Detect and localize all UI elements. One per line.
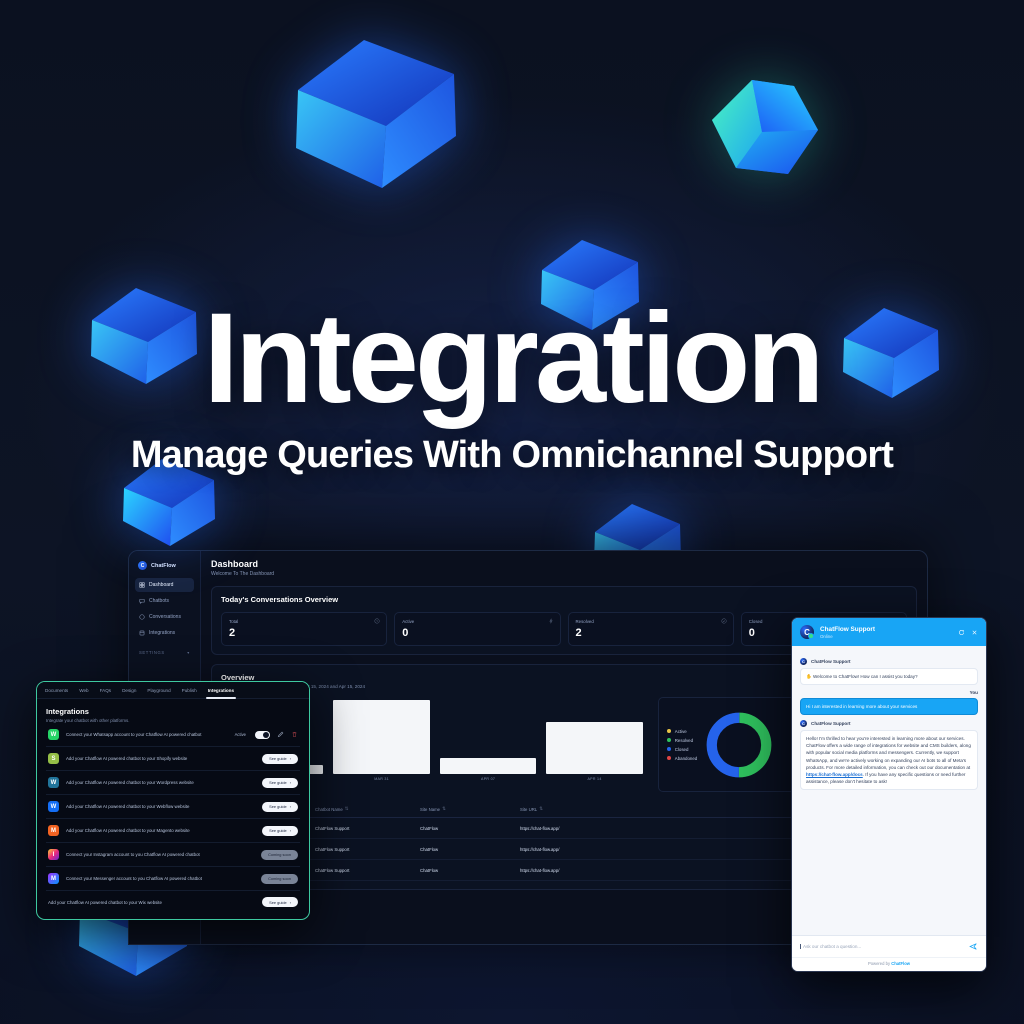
button-label: See guide [269,900,287,905]
bolt-icon [548,618,554,624]
footer-prefix: Powered by [868,961,891,966]
chevron-right-icon: › [290,804,291,809]
integration-row-messenger: M Connect your Messenger account to you … [46,867,300,891]
delete-trash-icon[interactable] [291,731,298,738]
stat-value: 2 [229,627,379,639]
header-label: Chatbot Name [315,807,343,812]
sidebar-item-label: Dashboard [149,582,173,588]
stat-card-total: Total 2 [221,612,387,646]
grid-icon [139,582,145,588]
stat-card-resolved: Resolved 2 [568,612,734,646]
chevron-down-icon: ▾ [187,650,190,655]
tab-playground[interactable]: Playground [147,688,170,698]
chevron-right-icon: › [290,756,291,761]
card-title: Today's Conversations Overview [221,595,907,604]
integration-label: Add your Chatflow AI powered chatbot to … [66,780,255,785]
edit-pencil-icon[interactable] [277,731,284,738]
integration-row-instagram: I Connect your Instagram account to you … [46,843,300,867]
sidebar-item-dashboard[interactable]: Dashboard [135,578,194,592]
stat-label: Resolved [576,619,726,624]
integration-label: Connect your Whatsapp account to your Ch… [66,732,228,737]
bot-avatar-icon: C [800,658,807,665]
chat-title: ChatFlow Support [820,626,875,633]
integrations-tabbar: Documents Web FAQs Design Playground Pub… [37,682,309,699]
sidebar-group-settings[interactable]: SETTINGS ▾ [135,642,194,658]
docs-link[interactable]: https://chat-flow.app/docs [806,772,863,777]
tab-web[interactable]: Web [79,688,88,698]
legend-swatch [667,756,671,760]
button-label: See guide [269,756,287,761]
shopify-icon: S [48,753,59,764]
refresh-icon[interactable] [958,629,965,636]
sort-icon: ⇅ [345,806,349,812]
brand-mark-icon: C [138,561,147,570]
legend-item: Abandoned [667,756,697,761]
active-toggle[interactable] [255,731,270,739]
tab-integrations[interactable]: Integrations [208,688,234,698]
legend-item: Closed [667,747,697,752]
chat-header: C ChatFlow Support Online [792,618,986,646]
messenger-icon: M [48,873,59,884]
stat-label: Total [229,619,379,624]
integration-label: Connect your Instagram account to you Ch… [66,852,254,857]
sort-icon: ⇅ [442,806,446,812]
sidebar-item-chatbots[interactable]: Chatbots [135,594,194,608]
bar [440,758,536,774]
hero-section: Integration Manage Queries With Omnichan… [0,300,1024,477]
sidebar-item-conversations[interactable]: Conversations [135,610,194,624]
chat-header-actions [958,629,978,636]
table-header-chatbot-name[interactable]: Chatbot Name⇅ [315,806,420,812]
sidebar-item-label: Conversations [149,614,181,620]
close-icon[interactable] [971,629,978,636]
legend-item: Active [667,729,697,734]
integrations-body: Integrations Integrate your chatbot with… [37,699,309,920]
poster-stage: Integration Manage Queries With Omnichan… [0,0,1024,1024]
header-label: Site URL [520,807,537,812]
stat-value: 0 [402,627,552,639]
status-badge: Online [820,634,875,639]
page-title: Integration [0,300,1024,418]
stat-card-active: Active 0 [394,612,560,646]
legend-swatch [667,729,671,733]
send-icon[interactable] [969,942,978,951]
see-guide-button[interactable]: See guide› [262,802,298,812]
chat-input-field[interactable]: Ask our chatbot a question... [800,944,963,949]
message-bubble-bot: Hello! I'm thrilled to hear you're inter… [800,730,978,790]
chat-footer: Powered by ChatFlow [792,957,986,971]
integration-row-webflow: W Add your Chatflow AI powered chatbot t… [46,795,300,819]
bar-group: APR 07 [440,697,536,781]
dashboard-subheading: Welcome To The Dashboard [211,571,917,577]
cell-site-name: ChatFlow [420,826,520,831]
cell-chatbot-name: ChatFlow Support [315,847,420,852]
cell-chatbot-name: ChatFlow Support [315,826,420,831]
header-label: Site Name [420,807,440,812]
tab-faqs[interactable]: FAQs [100,688,112,698]
message-bubble-user: Hi I am interested in learning more abou… [800,698,978,715]
bot-avatar-icon: C [800,720,807,727]
bar-group: MAR 31 [333,697,429,781]
legend-label: Abandoned [675,756,697,761]
button-label: See guide [269,780,287,785]
whatsapp-icon: W [48,729,59,740]
tab-publish[interactable]: Publish [182,688,197,698]
sidebar-item-label: Integrations [149,630,175,636]
legend-label: Resolved [675,738,693,743]
magento-icon: M [48,825,59,836]
instagram-icon: I [48,849,59,860]
legend-label: Active [675,729,687,734]
sender-name: ChatFlow Support [811,721,851,726]
octahedron-shape-top-right [706,74,824,182]
footer-brand: ChatFlow [891,961,910,966]
see-guide-button[interactable]: See guide› [262,778,298,788]
integration-row-whatsapp: W Connect your Whatsapp account to your … [46,723,300,747]
integration-row-magento: M Add your Chatflow AI powered chatbot t… [46,819,300,843]
cell-site-name: ChatFlow [420,847,520,852]
bar-label: MAR 31 [374,777,389,781]
integration-label: Add your Chatflow AI powered chatbot to … [66,804,255,809]
see-guide-button[interactable]: See guide› [262,754,298,764]
bar-group: APR 14 [546,697,642,781]
page-subtitle: Manage Queries With Omnichannel Support [0,434,1024,477]
cell-site-name: ChatFlow [420,868,520,873]
integration-label: Add your Chatflow AI powered chatbot to … [66,756,255,761]
chat-messages: C ChatFlow Support ✋ Welcome to ChatFlow… [792,646,986,935]
integration-row-wix: Add your Chatflow AI powered chatbot to … [46,891,300,913]
check-icon [721,618,727,624]
integrations-window: Documents Web FAQs Design Playground Pub… [36,681,310,920]
integration-label: Add your Chatflow AI powered chatbot to … [48,900,255,905]
tab-design[interactable]: Design [122,688,136,698]
message-text: Hello! I'm thrilled to hear you're inter… [806,736,971,769]
chevron-right-icon: › [290,780,291,785]
integrations-title: Integrations [46,707,300,716]
chat-input-bar[interactable]: Ask our chatbot a question... [792,935,986,957]
legend-item: Resolved [667,738,697,743]
chat-widget: C ChatFlow Support Online C ChatFlow Sup… [791,617,987,972]
sidebar-item-integrations[interactable]: Integrations [135,626,194,640]
stat-value: 2 [576,627,726,639]
chevron-right-icon: › [290,900,291,905]
message-bubble-bot: ✋ Welcome to ChatFlow! How can I assist … [800,668,978,685]
button-label: See guide [269,804,287,809]
legend-label: Closed [675,747,689,752]
donut-chart [703,709,775,781]
chat-header-text: ChatFlow Support Online [820,626,875,639]
bar-label: APR 14 [587,777,601,781]
chart-legend: Active Resolved Closed Abandoned [667,729,697,761]
cube-shape-top-left [286,22,476,197]
bar [546,722,642,774]
integration-row-shopify: S Add your Chatflow AI powered chatbot t… [46,747,300,771]
integration-row-wordpress: W Add your Chatflow AI powered chatbot t… [46,771,300,795]
message-sender: C ChatFlow Support [800,658,978,665]
brand-logo: C ChatFlow [135,558,194,578]
legend-swatch [667,738,671,742]
integration-label: Connect your Messenger account to you Ch… [66,876,254,881]
integration-label: Add your Chatflow AI powered chatbot to … [66,828,255,833]
webflow-icon: W [48,801,59,812]
cell-chatbot-name: ChatFlow Support [315,868,420,873]
avatar: C [800,625,814,639]
sidebar-item-label: Chatbots [149,598,169,604]
see-guide-button[interactable]: See guide› [262,826,298,836]
tab-documents[interactable]: Documents [45,688,68,698]
puzzle-icon [139,630,145,636]
stat-label: Active [402,619,552,624]
legend-swatch [667,747,671,751]
message-sender: You [800,690,978,695]
sender-name: ChatFlow Support [811,659,851,664]
clock-icon [374,618,380,624]
coming-soon-button: Coming soon [261,874,298,884]
sort-icon: ⇅ [539,806,543,812]
toggle-label: Active [235,732,246,737]
message-circle-icon [139,614,145,620]
table-header-site-name[interactable]: Site Name⇅ [420,806,520,812]
message-sender: C ChatFlow Support [800,720,978,727]
chevron-right-icon: › [290,828,291,833]
coming-soon-button: Coming soon [261,850,298,860]
sender-name: You [970,690,978,695]
button-label: See guide [269,828,287,833]
sidebar-group-label: SETTINGS [139,650,165,655]
bar-label: APR 07 [481,777,495,781]
wordpress-icon: W [48,777,59,788]
bar [333,700,429,774]
see-guide-button[interactable]: See guide› [262,897,298,907]
dashboard-heading: Dashboard [211,559,917,569]
brand-name: ChatFlow [151,563,176,569]
chat-bubble-icon [139,598,145,604]
